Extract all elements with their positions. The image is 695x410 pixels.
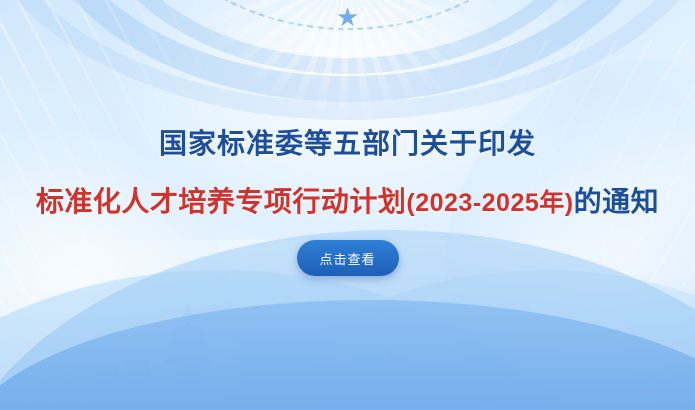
- banner-title-plan-name: 标准化人才培养专项行动计划: [36, 186, 407, 217]
- promo-banner: ★: [0, 0, 695, 410]
- banner-title-line-2: 标准化人才培养专项行动计划(2023-2025年)的通知: [0, 180, 695, 220]
- view-details-button[interactable]: 点击查看: [297, 240, 399, 276]
- banner-title-line-1: 国家标准委等五部门关于印发: [0, 122, 695, 162]
- banner-content: 国家标准委等五部门关于印发 标准化人才培养专项行动计划(2023-2025年)的…: [0, 0, 695, 410]
- banner-title-years: (2023-2025年): [406, 189, 573, 217]
- banner-title-suffix: 的通知: [574, 186, 660, 217]
